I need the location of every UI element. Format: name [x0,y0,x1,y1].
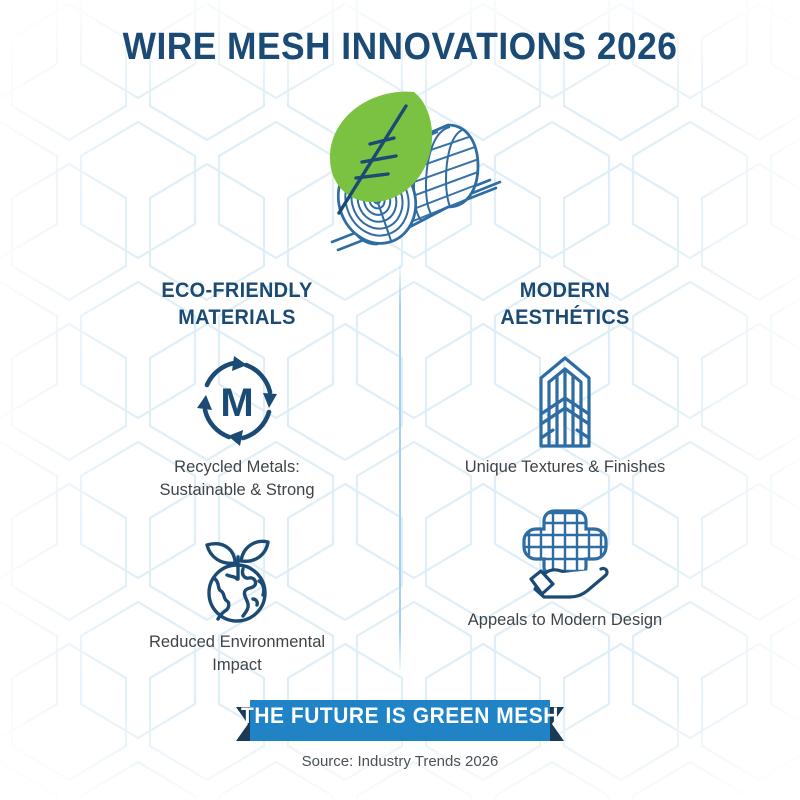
item-label-line-1: Recycled Metals: [92,456,382,479]
item-label-line-1: Reduced Environmental [92,631,382,654]
list-item: M Recycled Metals: Sustainable & Strong [72,348,402,502]
list-item: Appeals to Modern Design [400,501,730,632]
item-icon-wrap [72,523,402,631]
hand-holding-mesh-panel-icon [513,505,617,605]
item-label-line-2: Impact [92,654,382,677]
item-icon-wrap [400,501,730,609]
infographic-canvas: WIRE MESH INNOVATIONS 2026 [0,0,800,800]
item-label-line-1: Unique Textures & Finishes [420,456,710,479]
list-item: Reduced Environmental Impact [72,523,402,677]
column-heading: ECO-FRIENDLY MATERIALS [80,278,394,332]
item-label: Appeals to Modern Design [400,609,730,632]
column-eco-friendly-materials: ECO-FRIENDLY MATERIALS [72,278,402,677]
item-icon-wrap [400,348,730,456]
item-label-line-2: Sustainable & Strong [92,479,382,502]
item-icon-wrap: M [72,348,402,456]
hero-illustration [310,82,510,257]
globe-sprout-icon [185,527,289,627]
recycle-arrows-metal-icon: M [185,352,289,452]
column-heading-line-2: AESTHÉTICS [408,305,722,332]
item-label: Recycled Metals: Sustainable & Strong [72,456,402,502]
column-heading-line-1: MODERN [408,278,722,305]
item-label: Reduced Environmental Impact [72,631,402,677]
column-heading: MODERN AESTHÉTICS [408,278,722,332]
column-heading-line-1: ECO-FRIENDLY [80,278,394,305]
item-label-line-1: Appeals to Modern Design [420,609,710,632]
ribbon-label: THE FUTURE IS GREEN MESH [20,703,780,729]
page-title: WIRE MESH INNOVATIONS 2026 [28,28,772,66]
list-item: Unique Textures & Finishes [400,348,730,479]
wire-mesh-roll-with-leaf-icon [310,82,510,257]
column-modern-aesthetics: MODERN AESTHÉTICS [400,278,730,631]
recycle-icon-letter: M [220,381,253,425]
source-caption: Source: Industry Trends 2026 [0,753,800,770]
modern-building-facade-icon [513,352,617,452]
column-heading-line-2: MATERIALS [80,305,394,332]
item-label: Unique Textures & Finishes [400,456,730,479]
